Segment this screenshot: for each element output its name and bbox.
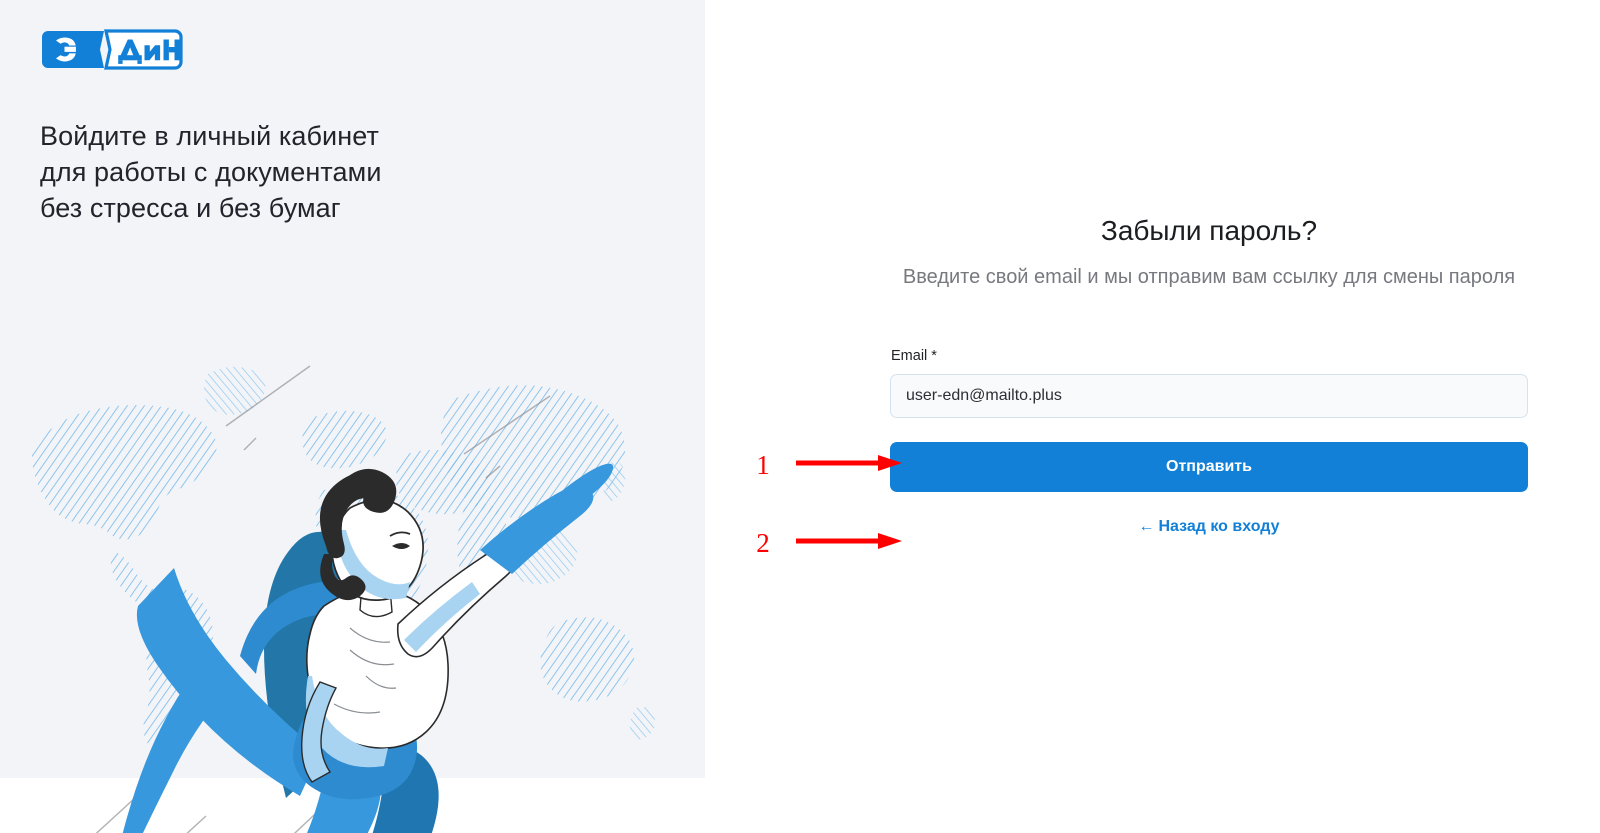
forgot-password-panel: Забыли пароль? Введите свой email и мы о… — [705, 0, 1600, 833]
promo-heading-line-3: без стресса и без бумаг — [40, 190, 520, 226]
annotation-marker-1: 1 — [752, 452, 902, 479]
page-subtitle: Введите свой email и мы отправим вам ссы… — [890, 263, 1528, 292]
annotation-marker-2: 2 — [752, 530, 902, 557]
back-to-login-label: Назад ко входу — [1158, 518, 1279, 535]
submit-button[interactable]: Отправить — [890, 442, 1528, 492]
annotation-arrow-2-icon — [796, 532, 902, 555]
promo-heading-line-1: Войдите в личный кабинет — [40, 118, 520, 154]
login-page: Войдите в личный кабинет для работы с до… — [0, 0, 1600, 833]
arrow-left-icon: ← — [1138, 518, 1154, 535]
back-to-login-link[interactable]: ←Назад ко входу — [1138, 518, 1279, 536]
promo-heading-line-2: для работы с документами — [40, 154, 520, 190]
forgot-password-form: Забыли пароль? Введите свой email и мы о… — [890, 213, 1528, 536]
annotation-number-1: 1 — [752, 452, 774, 479]
email-field-label: Email * — [890, 347, 1528, 365]
promo-heading: Войдите в личный кабинет для работы с до… — [40, 118, 520, 226]
page-title: Забыли пароль? — [890, 213, 1528, 249]
annotation-number-2: 2 — [752, 530, 774, 557]
annotation-arrow-1-icon — [796, 454, 902, 477]
email-field-block: Email * — [890, 347, 1528, 418]
back-link-row: ←Назад ко входу — [890, 518, 1528, 536]
edin-logo[interactable] — [40, 29, 183, 70]
left-promo-panel: Войдите в личный кабинет для работы с до… — [0, 0, 705, 778]
superhero-world-map-illustration — [0, 278, 706, 833]
email-input[interactable] — [890, 374, 1528, 418]
